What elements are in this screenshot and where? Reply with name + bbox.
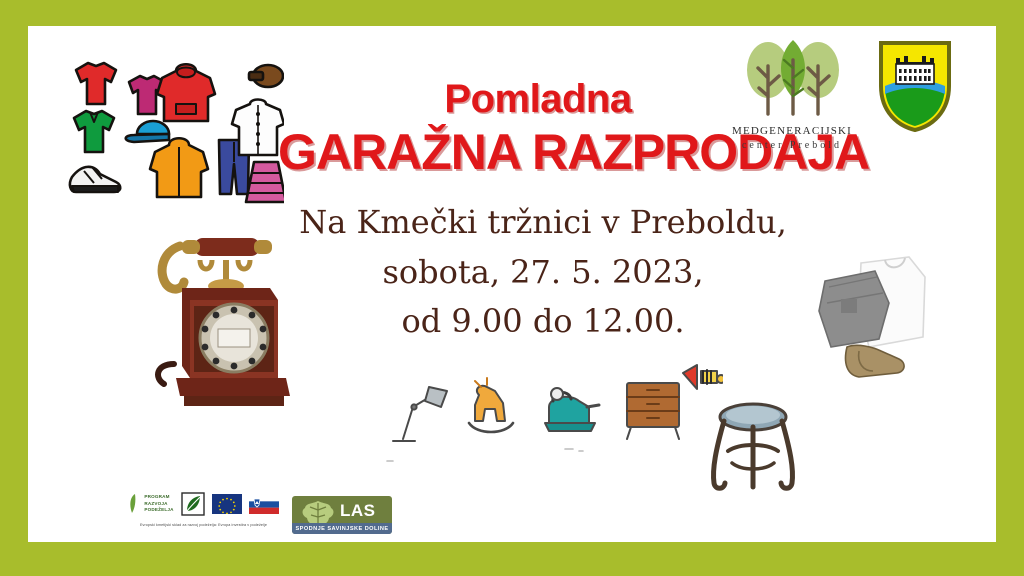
prp-text-block: PROGRAM RAZVOJA PODEŽELJA	[144, 494, 173, 515]
poster-canvas: Pomladna GARAŽNA RAZPRODAJA Na Kmečki tr…	[28, 26, 996, 542]
clothing-clipart	[64, 52, 284, 207]
folded-clothes-and-boots	[813, 251, 938, 386]
secondhand-objects-sketch	[383, 361, 723, 471]
leaf-badge-icon	[181, 492, 205, 516]
las-title: LAS	[340, 501, 376, 521]
las-band: SPODNJE SAVINJSKE DOLINE	[292, 523, 392, 534]
medgeneracijski-subtitle: center Prebold	[722, 140, 862, 151]
slovenia-flag-icon	[249, 495, 279, 514]
program-razvoja-podezelja-logo: PROGRAM RAZVOJA PODEŽELJA	[96, 490, 311, 527]
detail-time: od 9.00 do 12.00.	[258, 297, 828, 347]
medgeneracijski-logo: MEDGENERACIJSKI center Prebold	[722, 36, 862, 151]
leaf-sprout-icon	[128, 493, 137, 515]
prp-line-3: PODEŽELJA	[144, 507, 173, 514]
prp-caption: Evropski kmetijski sklad za razvoj podež…	[96, 523, 311, 527]
detail-date: sobota, 27. 5. 2023,	[258, 248, 828, 298]
prebold-coat-of-arms	[876, 38, 954, 134]
prp-line-1: PROGRAM	[144, 494, 173, 501]
three-trees-icon	[722, 36, 862, 118]
headline-line-1: Pomladna	[278, 78, 798, 120]
antique-side-table	[698, 391, 808, 501]
headline-block: Pomladna GARAŽNA RAZPRODAJA	[278, 78, 798, 179]
medgeneracijski-name: MEDGENERACIJSKI	[722, 125, 862, 137]
las-logo: LAS SPODNJE SAVINJSKE DOLINE	[292, 496, 392, 534]
event-details: Na Kmečki tržnici v Preboldu, sobota, 27…	[258, 198, 828, 347]
poster-frame: Pomladna GARAŽNA RAZPRODAJA Na Kmečki tr…	[0, 0, 1024, 576]
headline-line-2: GARAŽNA RAZPRODAJA	[278, 126, 798, 179]
eu-flag-icon	[212, 494, 242, 514]
detail-location: Na Kmečki tržnici v Preboldu,	[258, 198, 828, 248]
